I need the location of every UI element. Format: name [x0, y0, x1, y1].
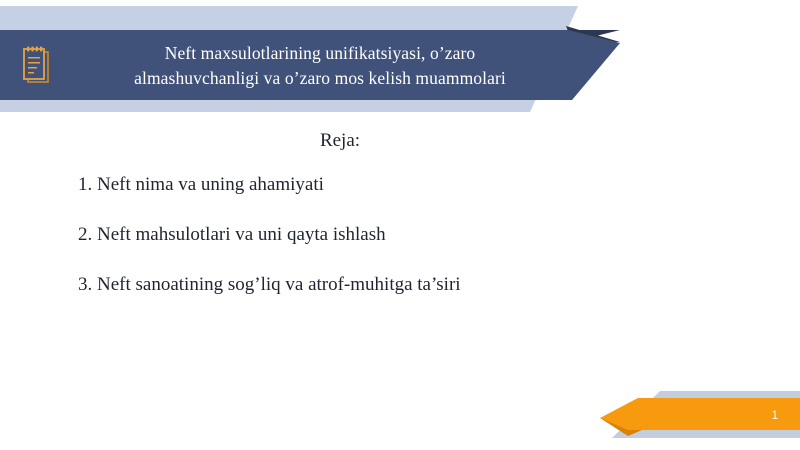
slide-title: Neft maxsulotlarining unifikatsiyasi, o’… — [70, 36, 570, 96]
agenda-item: 2. Neft mahsulotlari va uni qayta ishlas… — [78, 222, 800, 248]
slide-title-line-2: almashuvchanligi va o’zaro mos kelish mu… — [134, 66, 506, 91]
notepad-ring — [31, 47, 33, 52]
footer-banner-graphic — [590, 380, 800, 450]
slide-title-line-1: Neft maxsulotlarining unifikatsiyasi, o’… — [165, 41, 476, 66]
notepad-line — [28, 62, 40, 64]
notepad-ring — [27, 47, 29, 52]
agenda-list: 1. Neft nima va uning ahamiyati 2. Neft … — [78, 172, 800, 298]
notepad-ring — [40, 47, 42, 52]
notepad-ring — [36, 47, 38, 52]
notepad-front-page — [24, 49, 44, 79]
slide-body: Reja: 1. Neft nima va uning ahamiyati 2.… — [0, 128, 800, 322]
notepad-line — [28, 57, 40, 59]
footer-ribbon-shape — [600, 398, 800, 430]
agenda-item: 3. Neft sanoatining sog’liq va atrof-muh… — [78, 272, 800, 298]
notepad-line — [28, 67, 37, 69]
page-number: 1 — [772, 410, 778, 422]
agenda-item: 1. Neft nima va uning ahamiyati — [78, 172, 800, 198]
presentation-slide: Neft maxsulotlarining unifikatsiyasi, o’… — [0, 0, 800, 450]
notepad-line — [28, 72, 34, 74]
agenda-heading: Reja: — [0, 128, 800, 154]
notepad-icon — [20, 43, 52, 87]
